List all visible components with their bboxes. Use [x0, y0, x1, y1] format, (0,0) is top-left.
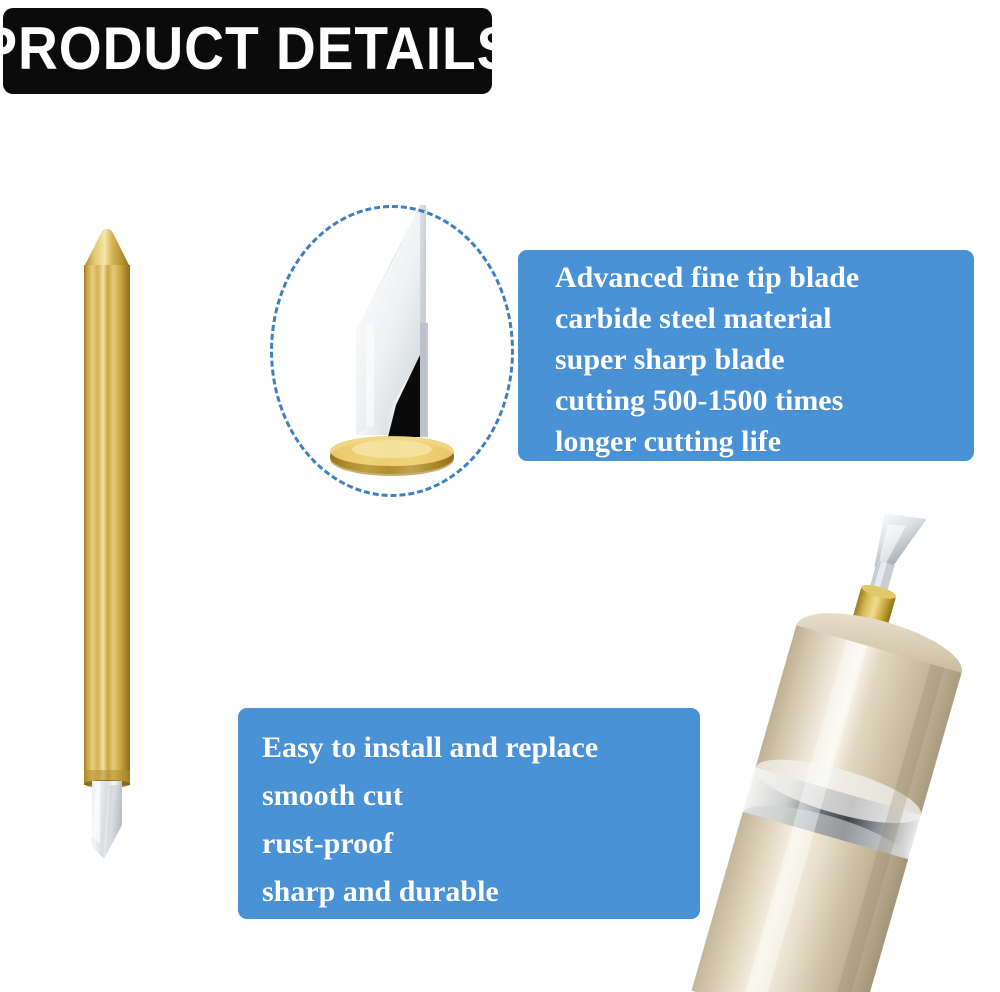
callout-bottom-line-1: Easy to install and replace — [262, 724, 700, 772]
callout-top-line-4: cutting 500-1500 times — [555, 380, 974, 421]
callout-bottom-line-4: sharp and durable — [262, 868, 700, 916]
callout-top: Advanced fine tip blade carbide steel ma… — [518, 250, 974, 461]
callout-bottom: Easy to install and replace smooth cut r… — [238, 708, 700, 919]
magnified-blade-tip — [270, 205, 514, 497]
callout-top-line-3: super sharp blade — [555, 339, 974, 380]
callout-top-line-1: Advanced fine tip blade — [555, 257, 974, 298]
blade-housing-svg — [690, 505, 1000, 992]
silver-blade-highlight — [92, 781, 100, 843]
product-details-page: PRODUCT DETAILS — [0, 0, 1000, 992]
page-title: PRODUCT DETAILS — [0, 19, 515, 83]
gold-blade-holder-svg — [70, 225, 160, 870]
callout-top-line-2: carbide steel material — [555, 298, 974, 339]
page-title-banner: PRODUCT DETAILS — [3, 8, 492, 94]
callout-bottom-line-2: smooth cut — [262, 772, 700, 820]
callout-top-line-5: longer cutting life — [555, 421, 974, 462]
callout-bottom-line-3: rust-proof — [262, 820, 700, 868]
gold-blade-holder-vertical — [70, 225, 160, 870]
blade-shaft — [84, 265, 130, 785]
blade-cone-tip — [84, 229, 130, 267]
blade-housing-photo — [690, 505, 1000, 992]
magnifier-dashed-circle — [270, 205, 514, 497]
